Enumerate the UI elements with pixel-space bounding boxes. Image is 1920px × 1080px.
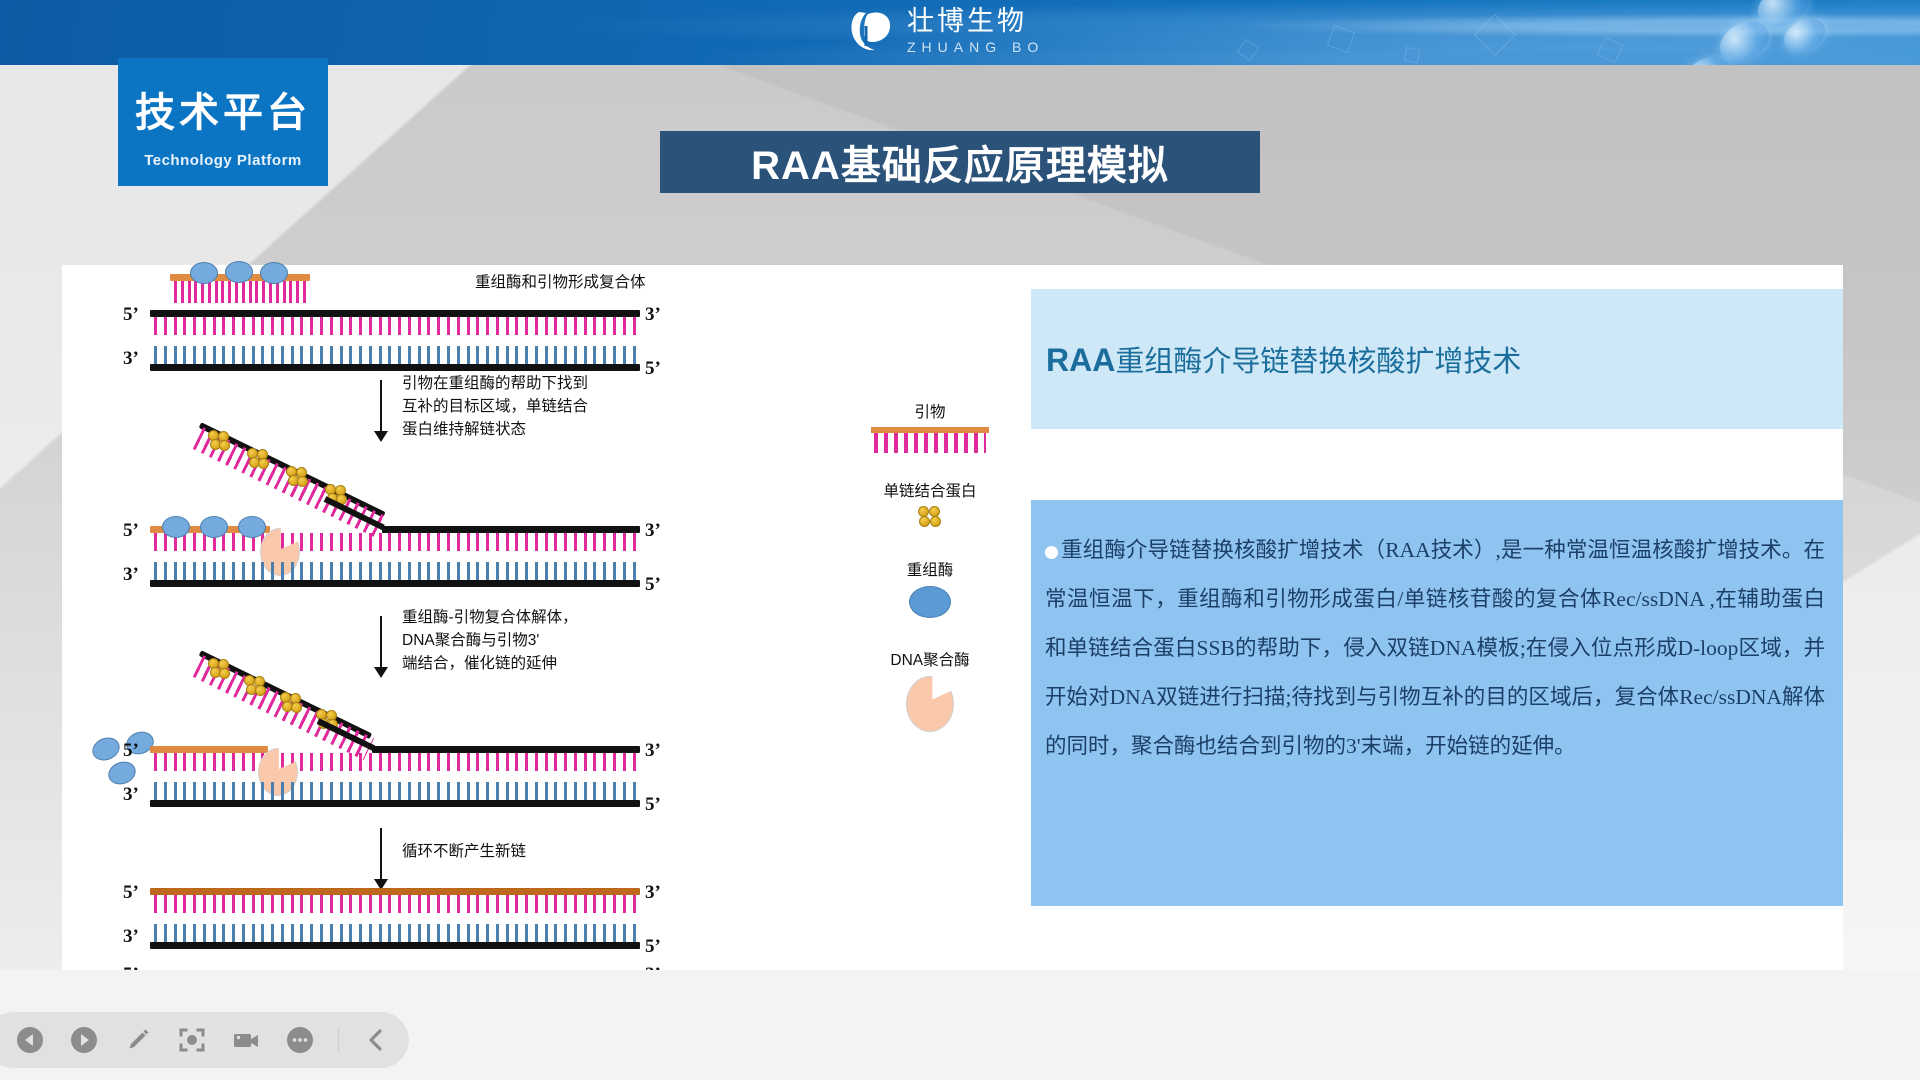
record-video-button[interactable] bbox=[230, 1024, 262, 1056]
panel-description: 重组酶介导链替换核酸扩增技术（RAA技术）,是一种常温恒温核酸扩增技术。在常温恒… bbox=[1031, 500, 1843, 906]
diagram-note-0: 重组酶和引物形成复合体 bbox=[475, 271, 646, 294]
bullet-icon bbox=[1045, 546, 1058, 559]
prev-circle-icon bbox=[15, 1025, 45, 1055]
flow-arrow-3 bbox=[380, 828, 382, 880]
legend-label: 单链结合蛋白 bbox=[845, 479, 1015, 501]
hexagon-decor-icon bbox=[1404, 47, 1420, 63]
chevron-left-icon bbox=[364, 1027, 390, 1053]
tech-platform-block: 技术平台 Technology Platform bbox=[118, 58, 328, 186]
legend-label: 引物 bbox=[845, 400, 1015, 422]
label-5prime: 5’ bbox=[123, 520, 139, 542]
focus-frame-icon bbox=[177, 1025, 207, 1055]
hexagon-decor-icon bbox=[1237, 39, 1259, 61]
label-3prime: 3’ bbox=[123, 564, 139, 586]
diagram-note-1: 引物在重组酶的帮助下找到 互补的目标区域，单链结合 蛋白维持解链状态 bbox=[402, 372, 588, 441]
tech-platform-cn: 技术平台 bbox=[118, 80, 328, 138]
ssb-icon bbox=[280, 692, 302, 712]
logo-pinyin: ZHUANG BO bbox=[907, 39, 1044, 55]
label-5prime: 5’ bbox=[645, 358, 661, 380]
legend-item-ssb: 单链结合蛋白 bbox=[845, 479, 1015, 528]
ssb-icon bbox=[247, 448, 269, 468]
screenshot-button[interactable] bbox=[176, 1024, 208, 1056]
ssb-icon bbox=[918, 506, 942, 528]
label-3prime: 3’ bbox=[123, 348, 139, 370]
flow-arrow-1 bbox=[380, 380, 382, 432]
label-3prime: 3’ bbox=[645, 520, 661, 542]
recombinase-icon bbox=[225, 261, 253, 283]
presentation-toolbar[interactable] bbox=[0, 1012, 409, 1068]
pen-icon bbox=[123, 1025, 153, 1055]
slide-canvas: 壮博生物 ZHUANG BO 技术平台 Technology Platform … bbox=[0, 0, 1920, 970]
toolbar-separator bbox=[338, 1027, 339, 1053]
page-title: RAA基础反应原理模拟 bbox=[751, 133, 1169, 191]
screen: 壮博生物 ZHUANG BO 技术平台 Technology Platform … bbox=[0, 0, 1920, 1080]
play-circle-icon bbox=[69, 1025, 99, 1055]
annotate-pen-button[interactable] bbox=[122, 1024, 154, 1056]
panel-description-text: 重组酶介导链替换核酸扩增技术（RAA技术）,是一种常温恒温核酸扩增技术。在常温恒… bbox=[1045, 538, 1825, 758]
label-3prime: 3’ bbox=[645, 964, 661, 970]
ellipsis-circle-icon bbox=[285, 1025, 315, 1055]
label-3prime: 3’ bbox=[123, 926, 139, 948]
flow-arrow-2 bbox=[380, 616, 382, 668]
ssb-icon bbox=[286, 466, 308, 486]
dna-helix-icon bbox=[1556, 0, 1920, 65]
recombinase-icon bbox=[190, 262, 218, 284]
more-options-button[interactable] bbox=[284, 1024, 316, 1056]
diagram-legend: 引物 单链结合蛋白 重组酶 DNA聚合酶 bbox=[845, 400, 1015, 750]
legend-label: 重组酶 bbox=[845, 558, 1015, 580]
ssb-icon bbox=[244, 675, 266, 695]
panel-heading: RAA重组酶介导链替换核酸扩增技术 bbox=[1031, 289, 1843, 429]
label-3prime: 3’ bbox=[645, 740, 661, 762]
panel-heading-abbr: RAA bbox=[1046, 342, 1115, 378]
hexagon-decor-icon bbox=[1474, 14, 1516, 56]
recombinase-icon bbox=[200, 516, 228, 538]
next-slide-button[interactable] bbox=[68, 1024, 100, 1056]
label-5prime: 5’ bbox=[645, 794, 661, 816]
ssb-icon bbox=[208, 430, 230, 450]
label-3prime: 3’ bbox=[645, 304, 661, 326]
top-banner: 壮博生物 ZHUANG BO bbox=[0, 0, 1920, 65]
ssb-icon bbox=[208, 658, 230, 678]
recombinase-icon bbox=[909, 586, 951, 618]
panel-heading-text: 重组酶介导链替换核酸扩增技术 bbox=[1115, 346, 1521, 378]
recombinase-icon bbox=[260, 262, 288, 284]
hexagon-decor-icon bbox=[1327, 25, 1355, 53]
label-5prime: 5’ bbox=[123, 882, 139, 904]
slide-title-band: RAA基础反应原理模拟 bbox=[660, 131, 1260, 193]
label-5prime: 5’ bbox=[123, 740, 139, 762]
label-5prime: 5’ bbox=[123, 964, 139, 970]
previous-slide-button[interactable] bbox=[14, 1024, 46, 1056]
dna-polymerase-icon bbox=[906, 676, 954, 732]
label-5prime: 5’ bbox=[645, 936, 661, 958]
leaf-logo-icon bbox=[845, 4, 899, 58]
collapse-toolbar-button[interactable] bbox=[361, 1024, 393, 1056]
recombinase-icon bbox=[89, 734, 123, 765]
tech-platform-en: Technology Platform bbox=[118, 152, 328, 169]
primer-icon bbox=[871, 427, 989, 453]
label-5prime: 5’ bbox=[645, 574, 661, 596]
video-camera-icon bbox=[231, 1025, 261, 1055]
recombinase-icon bbox=[238, 516, 266, 538]
legend-label: DNA聚合酶 bbox=[845, 648, 1015, 670]
legend-item-primer: 引物 bbox=[845, 400, 1015, 453]
legend-item-polymerase: DNA聚合酶 bbox=[845, 648, 1015, 732]
diagram-note-2: 重组酶-引物复合体解体， DNA聚合酶与引物3' 端结合，催化链的延伸 bbox=[402, 606, 578, 675]
label-3prime: 3’ bbox=[123, 784, 139, 806]
label-5prime: 5’ bbox=[123, 304, 139, 326]
label-3prime: 3’ bbox=[645, 882, 661, 904]
diagram-note-3: 循环不断产生新链 bbox=[402, 840, 526, 863]
company-logo: 壮博生物 ZHUANG BO bbox=[845, 4, 1044, 58]
legend-item-recombinase: 重组酶 bbox=[845, 558, 1015, 618]
recombinase-icon bbox=[162, 516, 190, 538]
logo-name: 壮博生物 bbox=[907, 8, 1044, 35]
